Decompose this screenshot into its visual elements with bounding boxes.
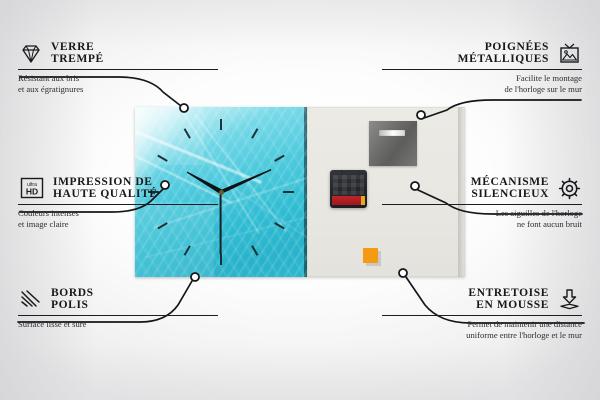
callout-rule (382, 315, 582, 316)
callout-header: MÉCANISME SILENCIEUX (382, 175, 582, 201)
callout-poignees-metalliques: POIGNÉES MÉTALLIQUES Facilite le montage… (382, 40, 582, 94)
svg-text:HD: HD (26, 187, 38, 197)
hour-tick (157, 155, 168, 162)
callout-header: POIGNÉES MÉTALLIQUES (382, 40, 582, 66)
polished-edges-icon (18, 286, 44, 312)
battery (332, 196, 361, 205)
desc-line: ne font aucun bruit (382, 219, 582, 229)
hour-tick (274, 155, 285, 162)
desc-line: Facilite le montage (382, 73, 582, 83)
minute-hand (220, 168, 272, 194)
desc-line: Les aiguilles de l'horloge (382, 208, 582, 218)
desc-line: et image claire (18, 219, 218, 229)
battery-terminal (361, 196, 365, 205)
hour-tick (184, 128, 191, 139)
quartz-mechanism (330, 170, 367, 208)
callout-description: Surface lisse et sûre (18, 319, 218, 329)
callout-bords-polis: BORDS POLIS Surface lisse et sûre (18, 286, 218, 330)
diamond-icon (18, 40, 44, 66)
callout-description: Résistant aux bris et aux égratignures (18, 73, 218, 94)
desc-line: de l'horloge sur le mur (382, 84, 582, 94)
callout-verre-trempe: VERRE TREMPÉ Résistant aux bris et aux é… (18, 40, 218, 94)
callout-title: ENTRETOISE EN MOUSSE (468, 287, 549, 312)
hour-tick (220, 119, 222, 130)
second-hand (220, 192, 222, 254)
clock-hub (219, 190, 224, 195)
callout-rule (18, 315, 218, 316)
mechanism-texture (333, 175, 364, 195)
hour-tick (251, 128, 258, 139)
desc-line: et aux égratignures (18, 84, 218, 94)
callout-rule (18, 204, 218, 205)
gear-icon (556, 175, 582, 201)
callout-title: MÉCANISME SILENCIEUX (471, 176, 549, 201)
callout-mecanisme-silencieux: MÉCANISME SILENCIEUX Les aiguilles de l'… (382, 175, 582, 229)
callout-rule (382, 204, 582, 205)
metal-hanger-plate (369, 121, 417, 166)
desc-line: Couleurs intenses (18, 208, 218, 218)
callout-title: POIGNÉES MÉTALLIQUES (458, 41, 549, 66)
callout-header: VERRE TREMPÉ (18, 40, 218, 66)
desc-line: Surface lisse et sûre (18, 319, 218, 329)
callout-description: Couleurs intenses et image claire (18, 208, 218, 229)
callout-header: ENTRETOISE EN MOUSSE (382, 286, 582, 312)
callout-description: Permet de maintenir une distance uniform… (382, 319, 582, 340)
hour-tick (220, 254, 222, 265)
infographic-canvas: VERRE TREMPÉ Résistant aux bris et aux é… (0, 0, 600, 400)
hour-tick (283, 191, 294, 193)
callout-header: BORDS POLIS (18, 286, 218, 312)
callout-description: Facilite le montage de l'horloge sur le … (382, 73, 582, 94)
hour-tick (184, 245, 191, 256)
ultra-hd-icon: ultra HD (18, 175, 46, 201)
callout-title: BORDS POLIS (51, 287, 94, 312)
callout-impression-haute-qualite: ultra HD IMPRESSION DE HAUTE QUALITÉ Cou… (18, 175, 218, 229)
callout-header: ultra HD IMPRESSION DE HAUTE QUALITÉ (18, 175, 218, 201)
foam-spacer (363, 248, 378, 263)
hanger-slot (379, 130, 405, 136)
hour-tick (274, 222, 285, 229)
desc-line: Résistant aux bris (18, 73, 218, 83)
hour-tick (251, 245, 258, 256)
desc-line: Permet de maintenir une distance (382, 319, 582, 329)
callout-title: VERRE TREMPÉ (51, 41, 104, 66)
callout-description: Les aiguilles de l'horloge ne font aucun… (382, 208, 582, 229)
callout-rule (18, 69, 218, 70)
callout-rule (382, 69, 582, 70)
foam-spacer-icon (556, 286, 582, 312)
callout-entretoise-en-mousse: ENTRETOISE EN MOUSSE Permet de maintenir… (382, 286, 582, 340)
callout-title: IMPRESSION DE HAUTE QUALITÉ (53, 176, 158, 201)
wall-mount-frame-icon (556, 40, 582, 66)
desc-line: uniforme entre l'horloge et le mur (382, 330, 582, 340)
